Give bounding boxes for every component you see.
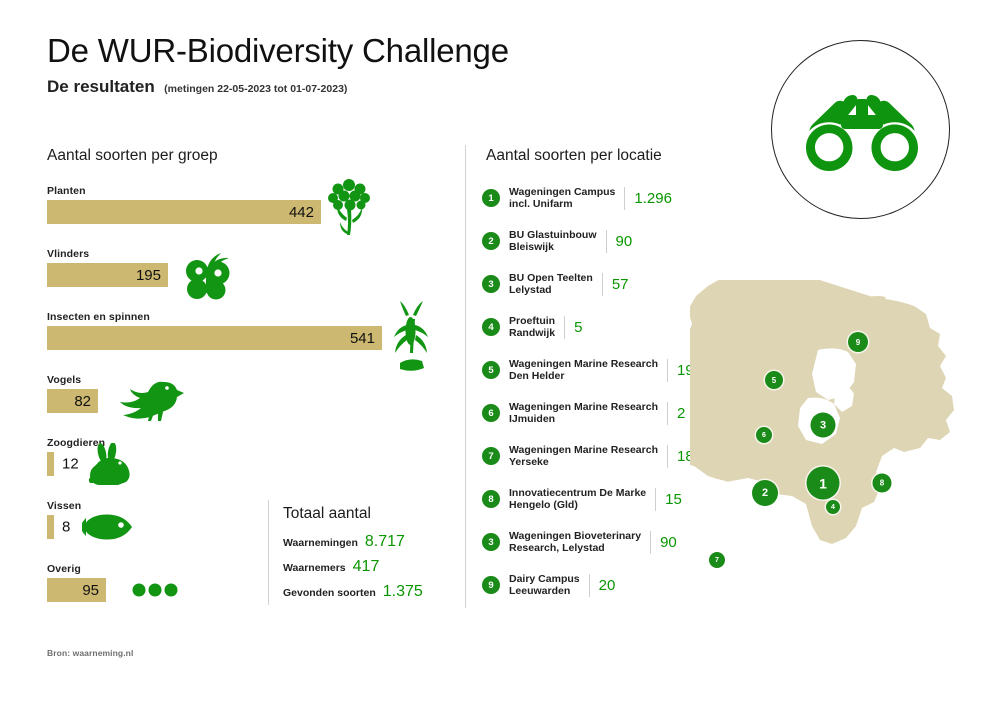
map-marker[interactable]: 6 [756,427,772,443]
map-marker[interactable]: 4 [826,500,840,514]
location-name: BU Open TeeltenLelystad [509,272,593,297]
bar-fill: 541 [47,326,382,350]
location-name-line2: Bleiswijk [509,241,597,253]
bird-icon [120,376,184,422]
location-badge: 5 [482,361,500,379]
bar-track: 12 [47,452,382,476]
measurement-period: (metingen 22-05-2023 tot 01-07-2023) [164,83,347,95]
location-name: Wageningen BioveterinaryResearch, Lelyst… [509,530,641,555]
location-separator [624,187,625,210]
bar-fill: 95 [47,578,106,602]
location-value: 90 [616,233,633,250]
location-name-line2: Den Helder [509,370,658,382]
location-value: 57 [612,276,629,293]
map-marker[interactable]: 1 [807,467,840,500]
location-row[interactable]: 3BU Open TeeltenLelystad57 [482,272,629,297]
bar-value: 195 [136,267,168,284]
netherlands-map: 953612847 [690,280,990,600]
bar-fill: 12 [47,452,54,476]
location-badge: 1 [482,189,500,207]
location-name-line1: Wageningen Marine Research [509,401,658,413]
location-name: Wageningen Marine ResearchYerseke [509,444,658,469]
infographic-page: De WUR-Biodiversity Challenge De resulta… [0,0,1000,707]
subtitle: De resultaten [47,77,155,96]
location-badge: 2 [482,232,500,250]
location-separator [564,316,565,339]
location-name: Wageningen Campusincl. Unifarm [509,186,615,211]
bar-label: Vogels [47,374,382,386]
location-name-line1: BU Open Teelten [509,272,593,284]
binoculars-icon [801,89,923,173]
location-name: Wageningen Marine ResearchDen Helder [509,358,658,383]
location-name: Wageningen Marine ResearchIJmuiden [509,401,658,426]
bar-fill: 195 [47,263,168,287]
location-name-line1: Proeftuin [509,315,555,327]
grasshopper-icon [390,301,430,379]
location-row[interactable]: 9Dairy CampusLeeuwarden20 [482,573,615,598]
location-separator [602,273,603,296]
map-marker[interactable]: 5 [765,371,783,389]
total-value: 1.375 [383,583,423,601]
bar-value: 8 [54,519,70,536]
map-marker[interactable]: 7 [709,552,725,568]
total-row: Waarnemers417 [283,558,379,576]
location-name-line1: BU Glastuinbouw [509,229,597,241]
bar-value: 442 [289,204,321,221]
rabbit-icon [86,443,134,485]
logo-circle [771,40,950,219]
location-badge: 6 [482,404,500,422]
groups-heading: Aantal soorten per groep [47,147,218,165]
subtitle-row: De resultaten (metingen 22-05-2023 tot 0… [47,77,347,97]
page-title: De WUR-Biodiversity Challenge [47,32,509,70]
bar-label: Insecten en spinnen [47,311,382,323]
location-row[interactable]: 4ProeftuinRandwijk5 [482,315,582,340]
total-label: Waarnemingen [283,537,358,549]
location-badge: 8 [482,490,500,508]
location-value: 15 [665,491,682,508]
total-value: 417 [353,558,380,576]
column-divider [465,145,466,608]
fish-icon [82,512,136,542]
location-value: 1.296 [634,190,672,207]
location-badge: 7 [482,447,500,465]
location-badge: 3 [482,275,500,293]
bar-row: Vlinders195 [47,248,382,287]
bar-row: Zoogdieren12 [47,437,382,476]
bar-fill: 442 [47,200,321,224]
location-separator [667,402,668,425]
location-name: ProeftuinRandwijk [509,315,555,340]
bar-track: 82 [47,389,382,413]
location-row[interactable]: 8Innovatiecentrum De MarkeHengelo (Gld)1… [482,487,682,512]
location-name-line1: Wageningen Marine Research [509,444,658,456]
location-name-line2: Randwijk [509,327,555,339]
location-separator [667,445,668,468]
total-row: Waarnemingen8.717 [283,533,405,551]
location-name-line1: Wageningen Marine Research [509,358,658,370]
bar-value: 82 [74,393,98,410]
map-shape [690,280,990,600]
map-marker[interactable]: 8 [873,474,892,493]
location-separator [589,574,590,597]
map-marker[interactable]: 9 [848,332,868,352]
bar-value: 95 [82,582,106,599]
location-row[interactable]: 6Wageningen Marine ResearchIJmuiden2 [482,401,685,426]
source-note: Bron: waarneming.nl [47,648,133,658]
bar-value: 12 [54,456,79,473]
location-name-line2: Leeuwarden [509,585,580,597]
bar-row: Planten442 [47,185,382,224]
location-name-line1: Wageningen Campus [509,186,615,198]
location-name-line1: Dairy Campus [509,573,580,585]
location-badge: 4 [482,318,500,336]
location-value: 2 [677,405,685,422]
flower-icon [327,176,371,236]
bar-value: 541 [350,330,382,347]
bar-row: Vogels82 [47,374,382,413]
location-name-line2: Yerseke [509,456,658,468]
location-separator [667,359,668,382]
three-dots-icon [132,583,178,597]
bar-track: 442 [47,200,382,224]
location-name-line2: Research, Lelystad [509,542,641,554]
total-label: Waarnemers [283,562,346,574]
location-value: 90 [660,534,677,551]
map-marker[interactable]: 2 [752,480,778,506]
bar-fill: 82 [47,389,98,413]
location-name-line1: Innovatiecentrum De Marke [509,487,646,499]
location-name-line2: Hengelo (Gld) [509,499,646,511]
location-row[interactable]: 1Wageningen Campusincl. Unifarm1.296 [482,186,672,211]
location-badge: 3 [482,533,500,551]
bar-label: Vissen [47,500,382,512]
butterfly-icon [182,249,238,301]
location-row[interactable]: 2BU GlastuinbouwBleiswijk90 [482,229,632,254]
location-row[interactable]: 7Wageningen Marine ResearchYerseke18 [482,444,694,469]
location-row[interactable]: 3Wageningen BioveterinaryResearch, Lelys… [482,530,677,555]
location-badge: 9 [482,576,500,594]
location-name: Dairy CampusLeeuwarden [509,573,580,598]
location-name-line2: IJmuiden [509,413,658,425]
location-value: 5 [574,319,582,336]
bar-row: Insecten en spinnen541 [47,311,382,350]
bar-track: 541 [47,326,382,350]
location-separator [655,488,656,511]
map-marker[interactable]: 3 [811,413,836,438]
total-row: Gevonden soorten1.375 [283,583,423,601]
location-name-line1: Wageningen Bioveterinary [509,530,641,542]
location-name: Innovatiecentrum De MarkeHengelo (Gld) [509,487,646,512]
total-label: Gevonden soorten [283,587,376,599]
location-row[interactable]: 5Wageningen Marine ResearchDen Helder19 [482,358,694,383]
locations-heading: Aantal soorten per locatie [486,147,662,165]
bar-track: 195 [47,263,382,287]
location-separator [650,531,651,554]
location-name-line2: Lelystad [509,284,593,296]
total-value: 8.717 [365,533,405,551]
location-value: 20 [599,577,616,594]
location-name: BU GlastuinbouwBleiswijk [509,229,597,254]
location-name-line2: incl. Unifarm [509,198,615,210]
bar-fill: 8 [47,515,54,539]
location-separator [606,230,607,253]
